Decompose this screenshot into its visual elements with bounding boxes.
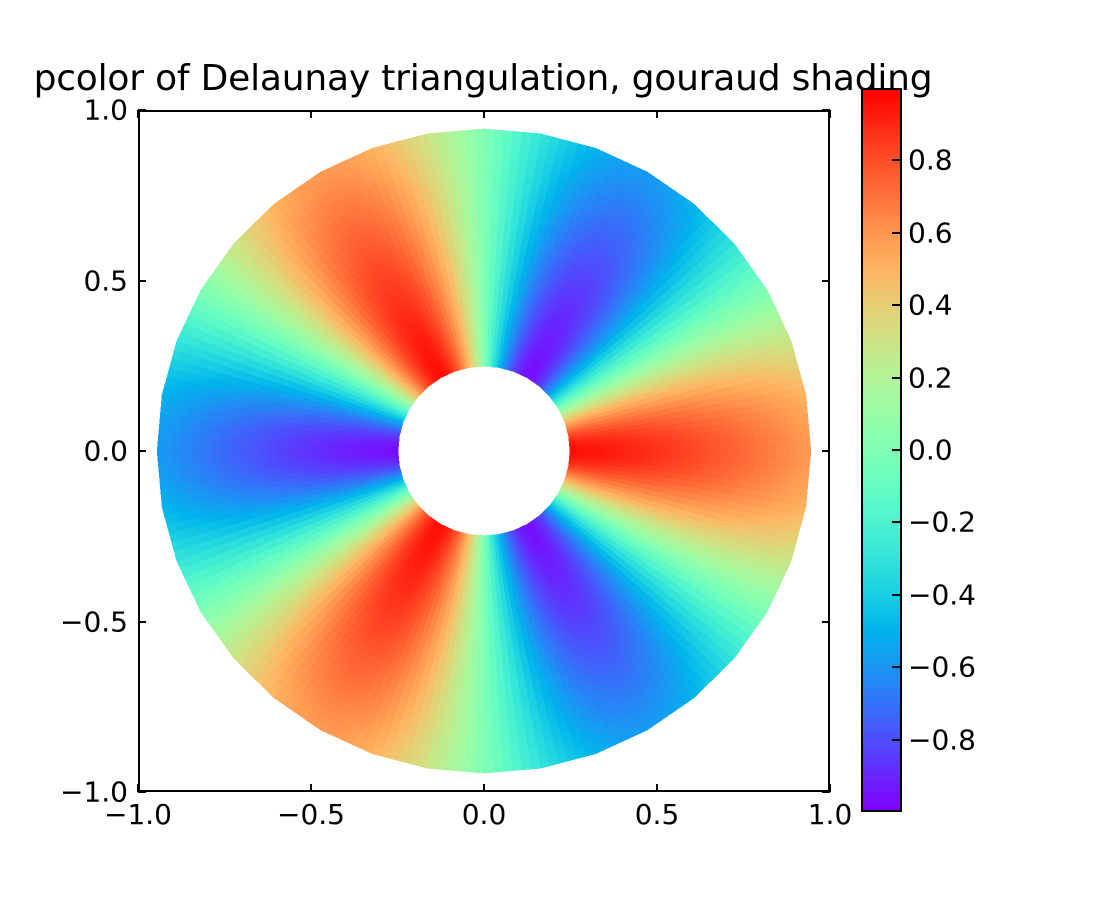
colorbar-tick-mark: [892, 159, 900, 161]
colorbar-tick-label: 0.2: [908, 361, 953, 394]
y-tick-mark-right: [822, 280, 830, 282]
main-axes: [138, 110, 830, 792]
x-tick-label: 1.0: [808, 798, 853, 831]
x-tick-mark-top: [483, 110, 485, 118]
y-tick-mark: [138, 791, 146, 793]
y-tick-mark-right: [822, 791, 830, 793]
y-tick-mark: [138, 109, 146, 111]
colorbar-tick-mark: [892, 521, 900, 523]
colorbar-tick-label: −0.6: [908, 651, 976, 684]
y-tick-mark-right: [822, 621, 830, 623]
y-tick-mark-right: [822, 450, 830, 452]
y-tick-mark: [138, 280, 146, 282]
x-tick-mark: [483, 784, 485, 792]
x-tick-label: 0.5: [635, 798, 680, 831]
colorbar-tick-label: −0.2: [908, 506, 976, 539]
x-tick-label: −0.5: [277, 798, 345, 831]
colorbar-tick-label: 0.0: [908, 434, 953, 467]
y-tick-label: 0.5: [0, 264, 128, 297]
colorbar-tick-mark: [892, 739, 900, 741]
figure-canvas: pcolor of Delaunay triangulation, gourau…: [0, 0, 1100, 900]
y-tick-mark: [138, 450, 146, 452]
x-tick-mark: [310, 784, 312, 792]
colorbar-tick-mark: [892, 594, 900, 596]
y-tick-mark: [138, 621, 146, 623]
x-tick-label: 0.0: [462, 798, 507, 831]
colorbar-tick-mark: [892, 232, 900, 234]
colorbar-tick-label: −0.4: [908, 578, 976, 611]
colorbar-tick-mark: [892, 377, 900, 379]
colorbar-tick-mark: [892, 304, 900, 306]
y-tick-mark-right: [822, 109, 830, 111]
colorbar-tick-mark: [892, 666, 900, 668]
colorbar-tick-label: 0.8: [908, 144, 953, 177]
y-tick-label: 0.0: [0, 435, 128, 468]
x-tick-mark-top: [137, 110, 139, 118]
y-tick-label: −0.5: [0, 605, 128, 638]
colorbar-tick-label: −0.8: [908, 723, 976, 756]
y-tick-label: −1.0: [0, 776, 128, 809]
x-tick-mark-top: [829, 110, 831, 118]
x-tick-mark-top: [310, 110, 312, 118]
y-tick-label: 1.0: [0, 94, 128, 127]
colorbar-tick-label: 0.6: [908, 216, 953, 249]
colorbar-tick-label: 0.4: [908, 289, 953, 322]
x-tick-mark-top: [656, 110, 658, 118]
colorbar-tick-mark: [892, 449, 900, 451]
x-tick-mark: [656, 784, 658, 792]
tripcolor-plot: [140, 112, 828, 790]
